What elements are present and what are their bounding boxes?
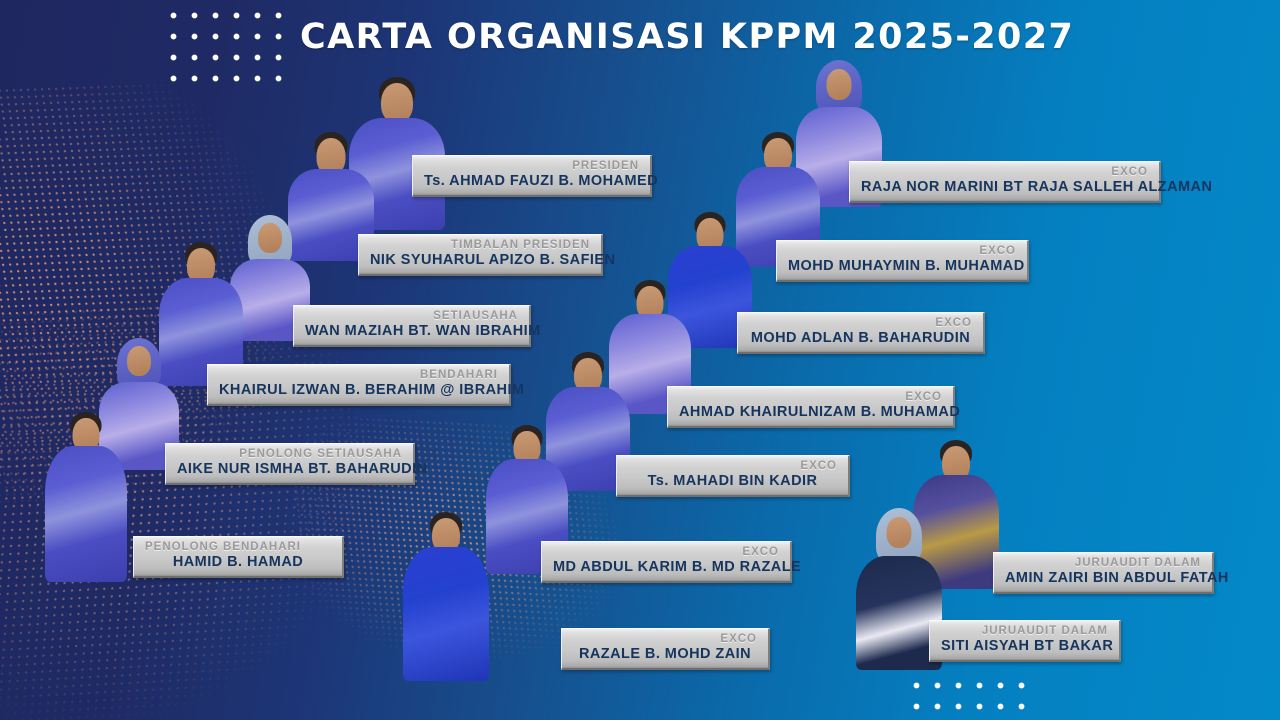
nameplate-role-label: EXCO bbox=[679, 391, 942, 404]
person-photo-exco-razale bbox=[400, 515, 492, 680]
nameplate-name-label: AHMAD KHAIRULNIZAM B. MUHAMAD bbox=[679, 404, 942, 421]
nameplate-exco-ts-mahadi[interactable]: EXCO Ts. MAHADI BIN KADIR bbox=[616, 455, 850, 497]
nameplate-role-label: PENOLONG BENDAHARI bbox=[145, 541, 331, 554]
nameplate-juruaudit-siti-aisyah[interactable]: JURUAUDIT DALAM SITI AISYAH BT BAKAR bbox=[929, 620, 1121, 662]
nameplate-role-label: EXCO bbox=[628, 460, 837, 473]
nameplate-role-label: EXCO bbox=[553, 546, 779, 559]
nameplate-role-label: PENOLONG SETIAUSAHA bbox=[177, 448, 402, 461]
dotted-mesh-wave-left-lower bbox=[0, 288, 456, 720]
nameplate-presiden[interactable]: PRESIDEN Ts. AHMAD FAUZI B. MOHAMED bbox=[412, 155, 652, 197]
nameplate-bendahari[interactable]: BENDAHARI KHAIRUL IZWAN B. BERAHIM @ IBR… bbox=[207, 364, 511, 406]
nameplate-name-label: MOHD MUHAYMIN B. MUHAMAD bbox=[788, 258, 1016, 275]
nameplate-role-label: EXCO bbox=[861, 166, 1148, 179]
person-photo-juruaudit-amin-zairi bbox=[910, 443, 1002, 588]
nameplate-name-label: RAJA NOR MARINI BT RAJA SALLEH ALZAMAN bbox=[861, 179, 1148, 196]
nameplate-role-label: PRESIDEN bbox=[424, 160, 639, 173]
nameplate-timbalan-presiden[interactable]: TIMBALAN PRESIDEN NIK SYUHARUL APIZO B. … bbox=[358, 234, 603, 276]
nameplate-exco-razale[interactable]: EXCO RAZALE B. MOHD ZAIN bbox=[561, 628, 770, 670]
nameplate-setiausaha[interactable]: SETIAUSAHA WAN MAZIAH BT. WAN IBRAHIM bbox=[293, 305, 531, 347]
nameplate-name-label: AMIN ZAIRI BIN ABDUL FATAH bbox=[1005, 570, 1201, 587]
nameplate-role-label: EXCO bbox=[573, 633, 757, 646]
dot-grid-bottom-icon bbox=[903, 672, 1029, 720]
nameplate-name-label: MOHD ADLAN B. BAHARUDIN bbox=[749, 330, 972, 347]
nameplate-exco-md-abdul-karim[interactable]: EXCO MD ABDUL KARIM B. MD RAZALE bbox=[541, 541, 792, 583]
page-title: CARTA ORGANISASI KPPM 2025-2027 bbox=[300, 17, 1074, 57]
nameplate-name-label: NIK SYUHARUL APIZO B. SAFIEN bbox=[370, 252, 590, 269]
nameplate-name-label: SITI AISYAH BT BAKAR bbox=[941, 638, 1108, 655]
nameplate-role-label: JURUAUDIT DALAM bbox=[1005, 557, 1201, 570]
organization-chart-poster: PRESIDEN Ts. AHMAD FAUZI B. MOHAMED TIMB… bbox=[0, 0, 1280, 720]
person-photo-penolong-bendahari bbox=[42, 415, 130, 580]
nameplate-role-label: BENDAHARI bbox=[219, 369, 498, 382]
nameplate-name-label: Ts. AHMAD FAUZI B. MOHAMED bbox=[424, 173, 639, 190]
nameplate-penolong-setiausaha[interactable]: PENOLONG SETIAUSAHA AIKE NUR ISMHA BT. B… bbox=[165, 443, 415, 485]
nameplate-penolong-bendahari[interactable]: PENOLONG BENDAHARI HAMID B. HAMAD bbox=[133, 536, 344, 578]
nameplate-exco-raja-nor-marini[interactable]: EXCO RAJA NOR MARINI BT RAJA SALLEH ALZA… bbox=[849, 161, 1161, 203]
dot-grid-top-icon bbox=[160, 2, 286, 86]
nameplate-role-label: SETIAUSAHA bbox=[305, 310, 518, 323]
nameplate-role-label: TIMBALAN PRESIDEN bbox=[370, 239, 590, 252]
nameplate-name-label: RAZALE B. MOHD ZAIN bbox=[573, 646, 757, 663]
nameplate-exco-mohd-adlan[interactable]: EXCO MOHD ADLAN B. BAHARUDIN bbox=[737, 312, 985, 354]
nameplate-name-label: KHAIRUL IZWAN B. BERAHIM @ IBRAHIM bbox=[219, 382, 498, 399]
nameplate-role-label: EXCO bbox=[788, 245, 1016, 258]
nameplate-name-label: WAN MAZIAH BT. WAN IBRAHIM bbox=[305, 323, 518, 340]
nameplate-name-label: AIKE NUR ISMHA BT. BAHARUDIN bbox=[177, 461, 402, 478]
nameplate-name-label: Ts. MAHADI BIN KADIR bbox=[628, 473, 837, 490]
nameplate-role-label: JURUAUDIT DALAM bbox=[941, 625, 1108, 638]
nameplate-juruaudit-amin-zairi[interactable]: JURUAUDIT DALAM AMIN ZAIRI BIN ABDUL FAT… bbox=[993, 552, 1214, 594]
nameplate-role-label: EXCO bbox=[749, 317, 972, 330]
nameplate-exco-ahmad-khairulnizam[interactable]: EXCO AHMAD KHAIRULNIZAM B. MUHAMAD bbox=[667, 386, 955, 428]
nameplate-name-label: MD ABDUL KARIM B. MD RAZALE bbox=[553, 559, 779, 576]
nameplate-name-label: HAMID B. HAMAD bbox=[145, 554, 331, 571]
nameplate-exco-mohd-muhaymin[interactable]: EXCO MOHD MUHAYMIN B. MUHAMAD bbox=[776, 240, 1029, 282]
